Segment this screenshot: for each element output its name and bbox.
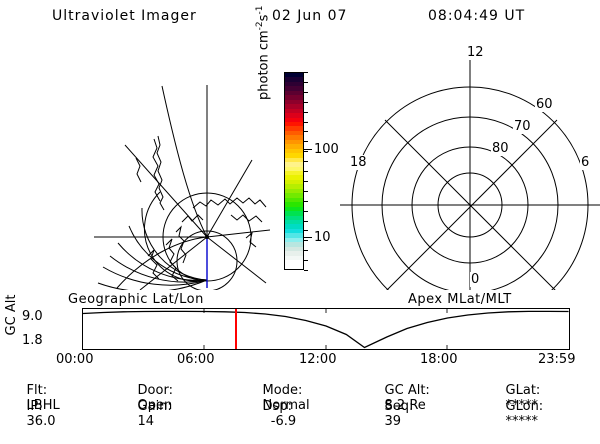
colorbar-segment: [285, 264, 303, 268]
colorbar-minor-tick: [304, 211, 308, 212]
colorbar-minor-tick: [304, 201, 308, 202]
status-glon-value: *****: [506, 414, 539, 429]
mlat-label-80: 80: [491, 141, 510, 156]
pole-center-dot: [205, 235, 209, 239]
strip-xtick-1: 06:00: [177, 352, 214, 367]
status-dsp-label: Dsp:: [263, 399, 292, 414]
colorbar-minor-tick: [304, 270, 308, 271]
colorbar-axis-label: photon cm-2s-1: [255, 0, 271, 100]
page-title: Ultraviolet Imager: [52, 8, 197, 24]
colorbar-minor-tick: [304, 230, 308, 231]
status-gain-label: Gain:: [138, 399, 172, 414]
apex-polar-plot: [335, 40, 600, 290]
colorbar-minor-tick: [304, 141, 308, 142]
colorbar-label-exp1: -2: [255, 21, 265, 30]
colorbar-minor-tick: [304, 161, 308, 162]
colorbar-minor-tick: [304, 82, 308, 83]
colorbar: [284, 72, 304, 270]
status-ip: IP: 36.0: [10, 384, 55, 444]
colorbar-minor-tick: [304, 112, 308, 113]
observation-time: 08:04:49 UT: [428, 8, 525, 24]
colorbar-minor-tick: [304, 102, 308, 103]
colorbar-minor-tick: [304, 151, 308, 152]
status-ip-label: IP:: [27, 399, 43, 414]
colorbar-gradient: [284, 72, 304, 270]
strip-title-geographic: Geographic Lat/Lon: [68, 292, 204, 307]
colorbar-minor-tick: [304, 260, 308, 261]
colorbar-label-mid: s: [256, 15, 271, 22]
colorbar-minor-tick: [304, 92, 308, 93]
colorbar-minor-tick: [304, 72, 308, 73]
status-seq-label: Seq:: [385, 399, 414, 414]
status-gain: Gain: 14: [121, 384, 172, 444]
strip-xtick-0: 00:00: [56, 352, 93, 367]
mlat-label-70: 70: [513, 119, 532, 134]
colorbar-minor-tick: [304, 250, 308, 251]
geographic-plot: [80, 40, 270, 290]
colorbar-minor-tick: [304, 240, 308, 241]
colorbar-tick-label: 10: [314, 231, 331, 244]
mlt-label-6: 6: [580, 155, 590, 170]
strip-ytick-max: 9.0: [22, 309, 43, 324]
strip-ytick-min: 1.8: [22, 333, 43, 348]
colorbar-minor-tick: [304, 131, 308, 132]
altitude-trace-svg: [83, 309, 569, 349]
colorbar-major-tick: [304, 149, 312, 150]
status-dsp-value: -6.9: [263, 414, 297, 429]
ultraviolet-imager-window: Ultraviolet Imager 02 Jun 07 08:04:49 UT: [0, 0, 600, 400]
colorbar-minor-tick: [304, 221, 308, 222]
altitude-trace: [83, 311, 569, 347]
colorbar-minor-tick: [304, 171, 308, 172]
status-gain-value: 14: [138, 414, 155, 429]
observation-date: 02 Jun 07: [272, 8, 347, 24]
strip-xtick-2: 12:00: [299, 352, 336, 367]
strip-y-axis-label: GC Alt: [4, 285, 19, 345]
colorbar-minor-tick: [304, 191, 308, 192]
status-dsp: Dsp: -6.9: [246, 384, 296, 444]
mlt-label-0: 0: [470, 272, 480, 287]
mlt-label-12: 12: [466, 45, 485, 60]
strip-title-apex: Apex MLat/MLT: [408, 292, 512, 307]
strip-xtick-4: 23:59: [538, 352, 575, 367]
colorbar-minor-tick: [304, 122, 308, 123]
mlt-label-18: 18: [349, 155, 368, 170]
mlat-label-60: 60: [535, 97, 554, 112]
colorbar-minor-tick: [304, 181, 308, 182]
status-glon: GLon: *****: [489, 384, 543, 444]
colorbar-ticks: 10010: [304, 72, 312, 270]
status-seq-value: 39: [385, 414, 402, 429]
coastline-paths: [136, 136, 266, 281]
status-seq: Seq: 39: [368, 384, 413, 444]
status-ip-value: 36.0: [27, 414, 56, 429]
colorbar-label-exp2: -1: [255, 6, 265, 15]
status-glon-label: GLon:: [506, 399, 544, 414]
strip-xtick-3: 18:00: [420, 352, 457, 367]
colorbar-label-main: photon cm: [256, 30, 271, 100]
altitude-strip-chart[interactable]: [82, 308, 570, 350]
colorbar-major-tick: [304, 237, 312, 238]
current-time-marker[interactable]: [235, 309, 237, 349]
